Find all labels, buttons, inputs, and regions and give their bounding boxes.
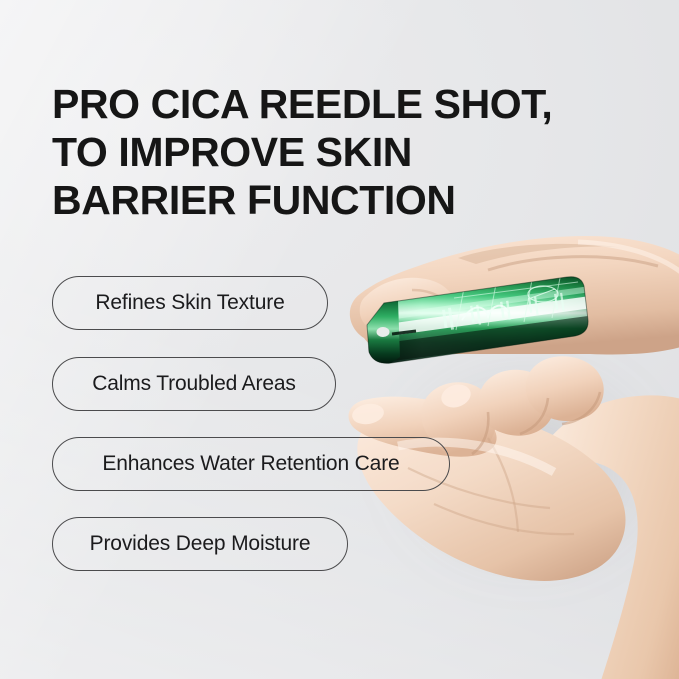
- benefit-label: Enhances Water Retention Care: [102, 452, 399, 476]
- benefit-label: Calms Troubled Areas: [92, 372, 296, 396]
- benefit-pill-refines-skin-texture[interactable]: Refines Skin Texture: [52, 276, 328, 330]
- benefit-pill-provides-deep-moisture[interactable]: Provides Deep Moisture: [52, 517, 348, 571]
- benefit-label: Provides Deep Moisture: [90, 532, 311, 556]
- tube-cap-dot: [377, 327, 390, 337]
- page-title: PRO CICA REEDLE SHOT, TO IMPROVE SKIN BA…: [52, 80, 612, 224]
- product-promo-canvas: PRO CICA REEDLE SHOT, TO IMPROVE SKIN BA…: [0, 0, 679, 679]
- benefit-pill-enhances-water-retention-care[interactable]: Enhances Water Retention Care: [52, 437, 450, 491]
- benefit-pill-calms-troubled-areas[interactable]: Calms Troubled Areas: [52, 357, 336, 411]
- benefit-label: Refines Skin Texture: [95, 291, 284, 315]
